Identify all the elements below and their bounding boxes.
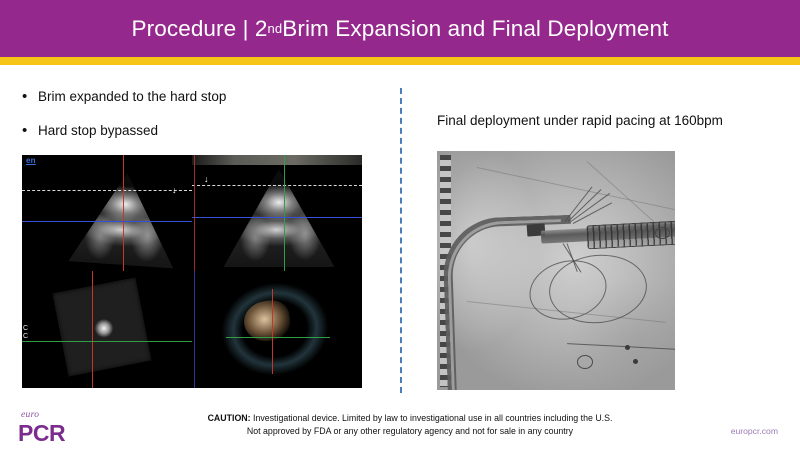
echo-arrow-icon: ↓ [204, 175, 209, 184]
bullet-marker-icon: • [22, 122, 38, 140]
echo-vertical-reference-line [92, 271, 93, 388]
echo-vertical-reference-line [123, 155, 124, 271]
caution-line-1: Investigational device. Limited by law t… [251, 413, 613, 423]
vertical-dashed-divider [400, 88, 402, 393]
echo-dashed-reference-line [192, 185, 362, 186]
echo-quadrant-top-left: en ↓ [22, 155, 192, 271]
fluoroscopy-caption: Final deployment under rapid pacing at 1… [437, 112, 777, 130]
bullet-list: • Brim expanded to the hard stop • Hard … [22, 88, 372, 156]
echo-quadrant-bottom-left: CC [22, 271, 192, 388]
logo-text-euro: euro [21, 410, 39, 420]
echo-horizontal-reference-line [22, 341, 192, 342]
echocardiography-panel: en ↓ ↓ CC [22, 155, 362, 388]
pigtail-catheter-ring [577, 355, 593, 369]
accent-band [0, 57, 800, 65]
echo-dashed-reference-line [22, 190, 192, 191]
echo-quadrant-bottom-right [192, 271, 362, 388]
radiopaque-dot [633, 359, 638, 364]
echo-side-marks: CC [23, 325, 28, 341]
website-link[interactable]: europcr.com [731, 426, 778, 436]
echo-edge-reference-line [194, 155, 195, 271]
echo-horizontal-reference-line [192, 217, 362, 218]
list-item: • Brim expanded to the hard stop [22, 88, 372, 106]
echo-quadrant-top-right: ↓ [192, 155, 362, 271]
list-item: • Hard stop bypassed [22, 122, 372, 140]
slide: Procedure | 2nd Brim Expansion and Final… [0, 0, 800, 450]
echo-top-grey-band [192, 155, 362, 165]
radiopaque-dot [625, 345, 630, 350]
bullet-text: Hard stop bypassed [38, 122, 158, 140]
caution-label: CAUTION: [208, 413, 251, 423]
page-title-prefix: Procedure | 2 [132, 16, 268, 42]
ultrasound-sector-icon [65, 169, 183, 269]
caution-line-2: Not approved by FDA or any other regulat… [247, 426, 573, 436]
echo-vertical-reference-line [284, 155, 285, 271]
logo-text-pcr: PCR [18, 420, 65, 447]
page-title-suffix: Brim Expansion and Final Deployment [282, 16, 668, 42]
echo-edge-reference-line [194, 271, 195, 388]
caution-statement: CAUTION: Investigational device. Limited… [110, 412, 710, 437]
echo-horizontal-reference-line [22, 221, 192, 222]
echo-corner-label: en [26, 156, 36, 165]
echo-vertical-reference-line [272, 289, 273, 374]
fluoroscopy-image [437, 151, 675, 390]
echo-arrow-icon: ↓ [172, 186, 177, 195]
bullet-marker-icon: • [22, 88, 38, 106]
ultrasound-sector-icon [220, 169, 338, 267]
europcr-logo: euro PCR [18, 410, 98, 446]
short-axis-view [53, 278, 151, 376]
echo-horizontal-reference-line [226, 337, 330, 338]
bullet-text: Brim expanded to the hard stop [38, 88, 226, 106]
page-title: Procedure | 2nd Brim Expansion and Final… [0, 0, 800, 57]
